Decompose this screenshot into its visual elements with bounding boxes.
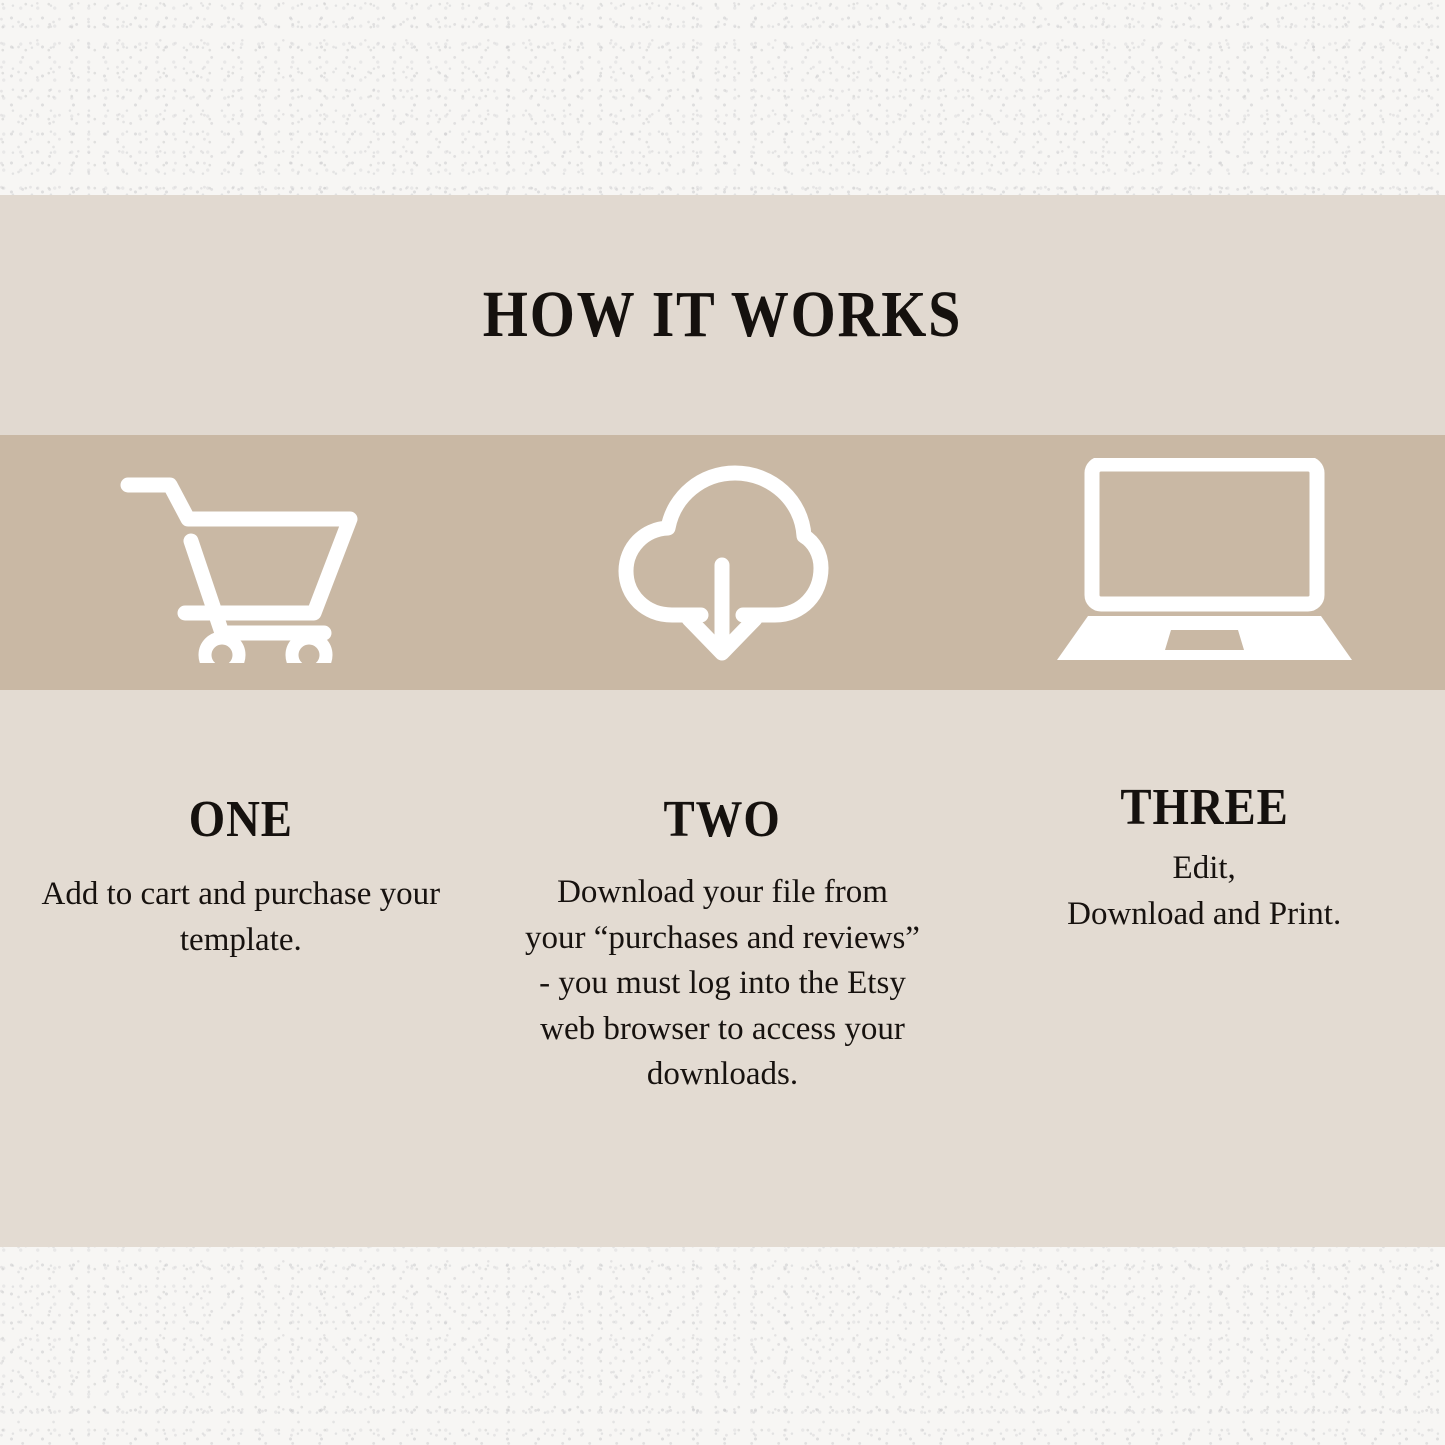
infographic-canvas: HOW IT WORKS [0, 0, 1445, 1445]
icon-cell-one [0, 435, 482, 690]
step-three-body: Edit,Download and Print. [1004, 846, 1404, 937]
step-column-one: ONE Add to cart and purchase your templa… [0, 690, 482, 963]
icon-cell-two [482, 435, 964, 690]
steps-row: ONE Add to cart and purchase your templa… [0, 690, 1445, 1247]
step-one-heading: ONE [189, 794, 293, 846]
cloud-download-icon [615, 463, 830, 663]
page-title: HOW IT WORKS [87, 195, 1359, 435]
step-three-heading: THREE [1120, 782, 1288, 834]
laptop-icon [1052, 458, 1357, 668]
shopping-cart-icon [118, 463, 363, 663]
step-two-heading: TWO [664, 794, 781, 846]
icon-row [0, 435, 1445, 690]
step-two-body: Download your file from your “purchases … [525, 870, 920, 1098]
step-one-body: Add to cart and purchase your template. [36, 872, 446, 963]
icon-cell-three [963, 435, 1445, 690]
step-column-three: THREE Edit,Download and Print. [963, 690, 1445, 937]
step-column-two: TWO Download your file from your “purcha… [482, 690, 964, 1098]
